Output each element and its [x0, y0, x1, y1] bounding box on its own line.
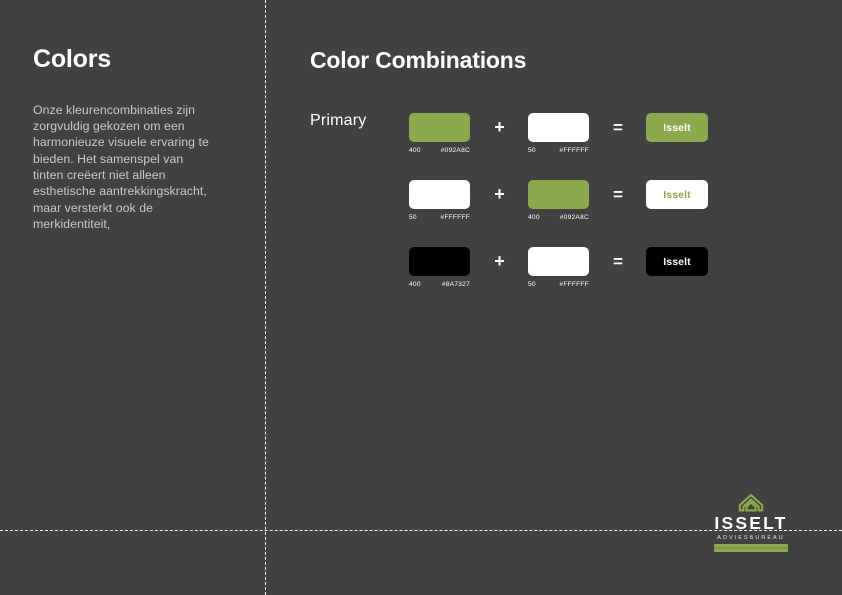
plus-operator: +: [471, 247, 528, 276]
swatch-meta: 50#FFFFFF: [528, 281, 589, 288]
result-chip[interactable]: Isselt: [646, 247, 708, 276]
swatch-hex-label: #FFFFFF: [559, 147, 589, 154]
swatch-block: 400#092A8C: [528, 180, 590, 221]
swatch-hex-label: #FFFFFF: [559, 281, 589, 288]
intro-paragraph: Onze kleurencombinaties zijn zorgvuldig …: [33, 102, 211, 233]
house-roof-icon: [738, 494, 764, 512]
swatch-block: 50#FFFFFF: [528, 113, 590, 154]
swatch-block: 50#FFFFFF: [409, 180, 471, 221]
swatch-tone-label: 400: [409, 281, 421, 288]
logo-wordmark: ISSELT: [714, 515, 788, 533]
swatch-tone-label: 50: [528, 281, 536, 288]
swatch-meta: 400#8A7327: [409, 281, 470, 288]
swatch-meta: 50#FFFFFF: [409, 214, 470, 221]
equals-operator: =: [590, 180, 646, 209]
color-swatch[interactable]: [409, 247, 470, 276]
swatch-hex-label: #FFFFFF: [440, 214, 470, 221]
plus-operator: +: [471, 180, 528, 209]
swatch-meta: 400#092A8C: [409, 147, 470, 154]
plus-operator: +: [471, 113, 528, 142]
swatch-meta: 400#092A8C: [528, 214, 589, 221]
combination-row: 50#FFFFFF+400#092A8C=Isselt: [409, 180, 708, 247]
result-chip[interactable]: Isselt: [646, 180, 708, 209]
swatch-meta: 50#FFFFFF: [528, 147, 589, 154]
swatch-tone-label: 400: [528, 214, 540, 221]
combination-rows: 400#092A8C+50#FFFFFF=Isselt50#FFFFFF+400…: [409, 113, 708, 314]
vertical-dashed-guide: [265, 0, 266, 595]
equals-operator: =: [590, 247, 646, 276]
color-swatch[interactable]: [409, 180, 470, 209]
color-swatch[interactable]: [528, 180, 589, 209]
group-label-primary: Primary: [310, 112, 367, 130]
slide-canvas: Colors Onze kleurencombinaties zijn zorg…: [0, 0, 842, 595]
isselt-logo: ISSELT ADVIESBUREAU BOUWKUNDIG BOUWKOSTE…: [714, 494, 788, 552]
swatch-hex-label: #8A7327: [442, 281, 470, 288]
combination-row: 400#092A8C+50#FFFFFF=Isselt: [409, 113, 708, 180]
color-swatch[interactable]: [409, 113, 470, 142]
swatch-block: 400#092A8C: [409, 113, 471, 154]
swatch-hex-label: #092A8C: [441, 147, 470, 154]
swatch-tone-label: 50: [528, 147, 536, 154]
page-title: Colors: [33, 46, 233, 74]
colors-intro-panel: Colors Onze kleurencombinaties zijn zorg…: [33, 46, 233, 232]
color-swatch[interactable]: [528, 113, 589, 142]
result-chip[interactable]: Isselt: [646, 113, 708, 142]
logo-tagline-bar: BOUWKUNDIG BOUWKOSTEN EXPLOITATIEKOSTEN: [714, 544, 788, 552]
swatch-hex-label: #092A8C: [560, 214, 589, 221]
section-title: Color Combinations: [310, 48, 810, 73]
swatch-block: 400#8A7327: [409, 247, 471, 288]
equals-operator: =: [590, 113, 646, 142]
color-swatch[interactable]: [528, 247, 589, 276]
logo-subtitle: ADVIESBUREAU: [714, 536, 788, 541]
swatch-tone-label: 50: [409, 214, 417, 221]
combination-row: 400#8A7327+50#FFFFFF=Isselt: [409, 247, 708, 314]
color-combinations-panel: Color Combinations: [310, 48, 810, 117]
swatch-tone-label: 400: [409, 147, 421, 154]
swatch-block: 50#FFFFFF: [528, 247, 590, 288]
